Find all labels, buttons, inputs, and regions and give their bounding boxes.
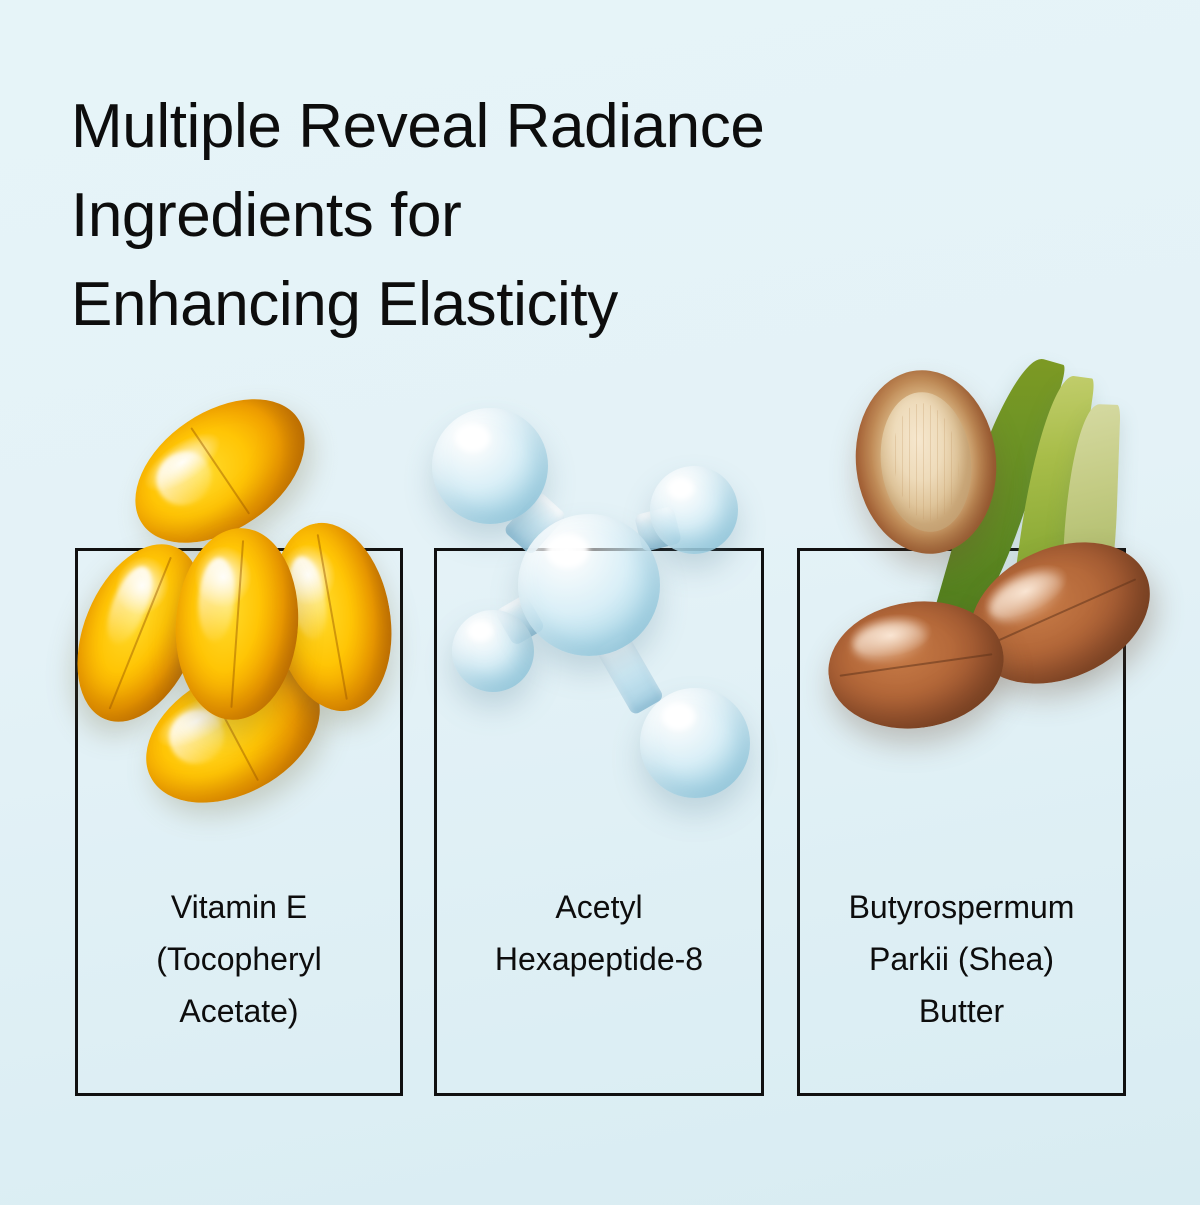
molecule-bond-icon bbox=[634, 506, 682, 553]
ingredient-caption-vitamin-e: Vitamin E (Tocopheryl Acetate) bbox=[56, 881, 422, 1037]
nut-kernel bbox=[874, 388, 978, 536]
cracked-shea-nut-icon bbox=[847, 363, 1005, 561]
ingredient-card-acetyl-hexapeptide-8: Acetyl Hexapeptide-8 bbox=[434, 548, 764, 1096]
softgel-capsule-icon bbox=[109, 370, 331, 573]
ingredient-card-shea-butter: Butyrospermum Parkii (Shea) Butter bbox=[797, 548, 1126, 1096]
molecule-bond-icon bbox=[503, 490, 567, 556]
ingredient-caption-acetyl-hexapeptide-8: Acetyl Hexapeptide-8 bbox=[415, 881, 783, 985]
ingredient-infographic: Multiple Reveal Radiance Ingredients for… bbox=[0, 0, 1200, 1205]
ingredient-card-vitamin-e: Vitamin E (Tocopheryl Acetate) bbox=[75, 548, 403, 1096]
page-title: Multiple Reveal Radiance Ingredients for… bbox=[71, 82, 1071, 349]
molecule-atom-icon bbox=[650, 466, 738, 554]
ingredient-caption-shea-butter: Butyrospermum Parkii (Shea) Butter bbox=[778, 881, 1145, 1037]
molecule-atom-icon bbox=[432, 408, 548, 524]
